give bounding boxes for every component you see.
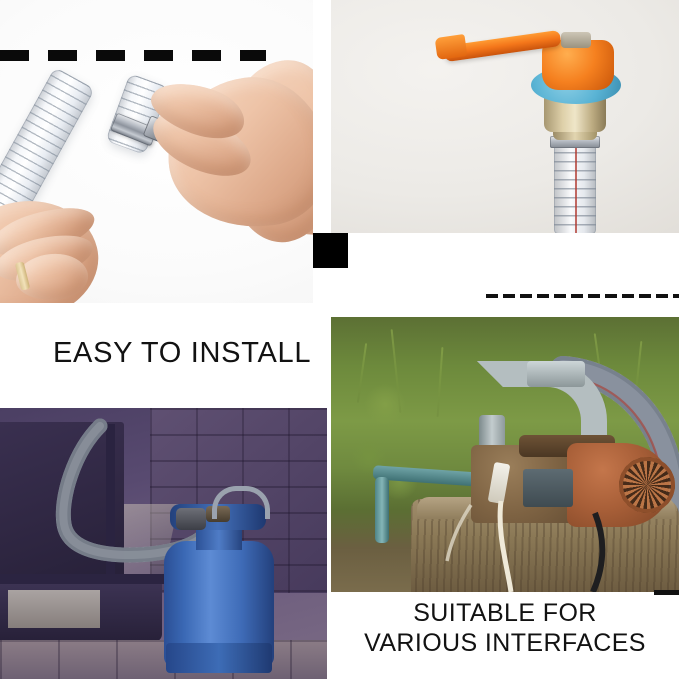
corner-dash-accent [654, 590, 679, 595]
black-square-accent [313, 233, 348, 268]
power-cables [331, 317, 679, 592]
hose-red-tracer-stripe [575, 140, 577, 233]
photo-hands-installing-clamp [0, 0, 313, 303]
photo-water-pump-stump [331, 317, 679, 592]
infographic-canvas: EASY TO INSTALL [0, 0, 679, 679]
cylinder-carry-handle [212, 486, 270, 519]
caption-easy-to-install: EASY TO INSTALL [53, 337, 311, 370]
caption-line-1: SUITABLE FOR [340, 598, 670, 628]
valve-stem-nut [561, 32, 591, 48]
photo-valve-background [331, 0, 679, 233]
lpg-cylinder-base [166, 643, 272, 673]
valve-lever-grip [435, 34, 468, 60]
photo-lpg-cylinder-grill [0, 408, 327, 679]
caption-suitable-for-various-interfaces: SUITABLE FOR VARIOUS INTERFACES [340, 598, 670, 658]
bold-dashed-rule [0, 50, 266, 61]
photo-orange-ball-valve [331, 0, 679, 233]
caption-line-2: VARIOUS INTERFACES [340, 628, 670, 658]
gas-valve [176, 508, 206, 530]
thin-dashed-rule [486, 294, 679, 298]
